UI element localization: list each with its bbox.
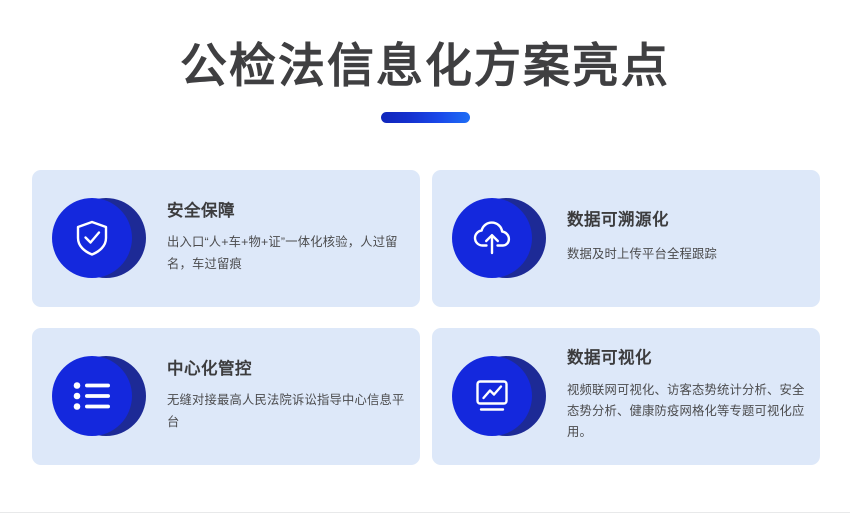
card-heading: 中心化管控 [167, 360, 408, 380]
card-body: 数据及时上传平台全程跟踪 [567, 244, 808, 265]
card-text: 数据可视化 视频联网可视化、访客态势统计分析、安全态势分析、健康防疫网格化等专题… [544, 349, 820, 443]
icon-circle [452, 198, 532, 278]
card-heading: 数据可视化 [567, 349, 808, 369]
icon-badge [448, 353, 544, 439]
icon-circle [452, 356, 532, 436]
page-header: 公检法信息化方案亮点 [0, 0, 850, 123]
icon-badge [48, 195, 144, 281]
highlight-card-security[interactable]: 安全保障 出入口“人+车+物+证”一体化核验，人过留名，车过留痕 [32, 170, 420, 307]
highlight-card-data-traceability[interactable]: 数据可溯源化 数据及时上传平台全程跟踪 [432, 170, 820, 307]
title-underline-accent [381, 112, 470, 123]
card-text: 中心化管控 无缝对接最高人民法院诉讼指导中心信息平台 [144, 360, 420, 433]
icon-circle [52, 356, 132, 436]
shield-check-icon [75, 219, 109, 257]
highlight-card-data-visualization[interactable]: 数据可视化 视频联网可视化、访客态势统计分析、安全态势分析、健康防疫网格化等专题… [432, 328, 820, 465]
icon-circle [52, 198, 132, 278]
icon-badge [48, 353, 144, 439]
highlight-card-grid: 安全保障 出入口“人+车+物+证”一体化核验，人过留名，车过留痕 数据可溯源化 … [32, 170, 818, 465]
card-text: 数据可溯源化 数据及时上传平台全程跟踪 [544, 211, 820, 265]
chart-monitor-icon [473, 379, 511, 413]
page-title: 公检法信息化方案亮点 [0, 40, 850, 92]
card-body: 视频联网可视化、访客态势统计分析、安全态势分析、健康防疫网格化等专题可视化应用。 [567, 380, 808, 443]
bulleted-list-icon [73, 381, 111, 411]
highlight-card-centralized-control[interactable]: 中心化管控 无缝对接最高人民法院诉讼指导中心信息平台 [32, 328, 420, 465]
card-heading: 数据可溯源化 [567, 211, 808, 231]
bottom-divider [0, 512, 850, 513]
card-body: 无缝对接最高人民法院诉讼指导中心信息平台 [167, 390, 408, 432]
cloud-upload-icon [472, 220, 512, 256]
card-text: 安全保障 出入口“人+车+物+证”一体化核验，人过留名，车过留痕 [144, 202, 420, 275]
icon-badge [448, 195, 544, 281]
title-underline-wrap [0, 112, 850, 123]
card-heading: 安全保障 [167, 202, 408, 222]
card-body: 出入口“人+车+物+证”一体化核验，人过留名，车过留痕 [167, 232, 408, 274]
